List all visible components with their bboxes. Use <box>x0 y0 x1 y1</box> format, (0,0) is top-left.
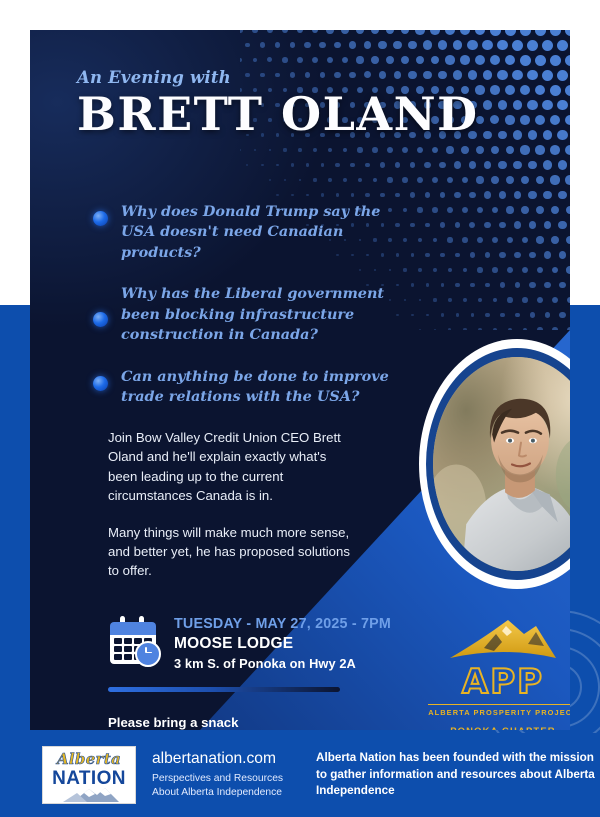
calendar-clock-icon <box>108 616 160 666</box>
body-paragraph-1: Join Bow Valley Credit Union CEO Brett O… <box>108 428 353 506</box>
app-chapter: PONOKA CHAPTER <box>428 725 570 730</box>
event-venue: MOOSE LODGE <box>174 635 391 653</box>
calendar-header <box>110 622 156 635</box>
poster-card: An Evening with BRETT OLAND Why does Don… <box>30 30 570 730</box>
bullet-text: Can anything be done to improve trade re… <box>121 367 403 408</box>
list-item: Why does Donald Trump say the USA doesn'… <box>93 202 403 263</box>
kicker-text: An Evening with <box>77 68 497 87</box>
body-paragraph-2: Many things will make much more sense, a… <box>108 523 353 581</box>
logo-word-alberta: Alberta <box>43 750 135 768</box>
page-title: BRETT OLAND <box>77 91 497 138</box>
site-tagline: Perspectives and Resources About Alberta… <box>152 772 302 799</box>
body-copy: Join Bow Valley Credit Union CEO Brett O… <box>108 428 353 598</box>
event-note: Please bring a snack <box>108 715 238 730</box>
site-info: albertanation.com Perspectives and Resou… <box>152 750 302 799</box>
event-address: 3 km S. of Ponoka on Hwy 2A <box>174 656 391 671</box>
list-item: Can anything be done to improve trade re… <box>93 367 403 408</box>
bullet-text: Why does Donald Trump say the USA doesn'… <box>121 202 403 263</box>
list-item: Why has the Liberal government been bloc… <box>93 284 403 345</box>
divider-rule <box>108 687 340 692</box>
event-text-group: TUESDAY - MAY 27, 2025 - 7PM MOOSE LODGE… <box>174 616 391 671</box>
question-bullet-list: Why does Donald Trump say the USA doesn'… <box>93 202 403 429</box>
bullet-dot-icon <box>93 312 108 327</box>
event-datetime: TUESDAY - MAY 27, 2025 - 7PM <box>174 616 391 632</box>
site-url[interactable]: albertanation.com <box>152 750 302 768</box>
event-details: TUESDAY - MAY 27, 2025 - 7PM MOOSE LODGE… <box>108 616 391 671</box>
app-acronym: APP <box>428 665 570 699</box>
headline-group: An Evening with BRETT OLAND <box>77 68 497 138</box>
bullet-dot-icon <box>93 211 108 226</box>
avatar <box>419 339 570 589</box>
bullet-text: Why has the Liberal government been bloc… <box>121 284 403 345</box>
mission-statement: Alberta Nation has been founded with the… <box>316 750 600 800</box>
app-logo: APP ALBERTA PROSPERITY PROJECT PONOKA CH… <box>428 618 570 730</box>
alberta-nation-logo: Alberta NATION <box>42 746 136 804</box>
bullet-dot-icon <box>93 376 108 391</box>
app-full-name: ALBERTA PROSPERITY PROJECT <box>428 704 570 717</box>
mountain-icon <box>43 786 135 802</box>
mountain-icon <box>444 618 562 664</box>
clock-badge-icon <box>135 641 161 667</box>
footer-bar: Alberta NATION albertanation.com Perspec… <box>0 733 600 817</box>
